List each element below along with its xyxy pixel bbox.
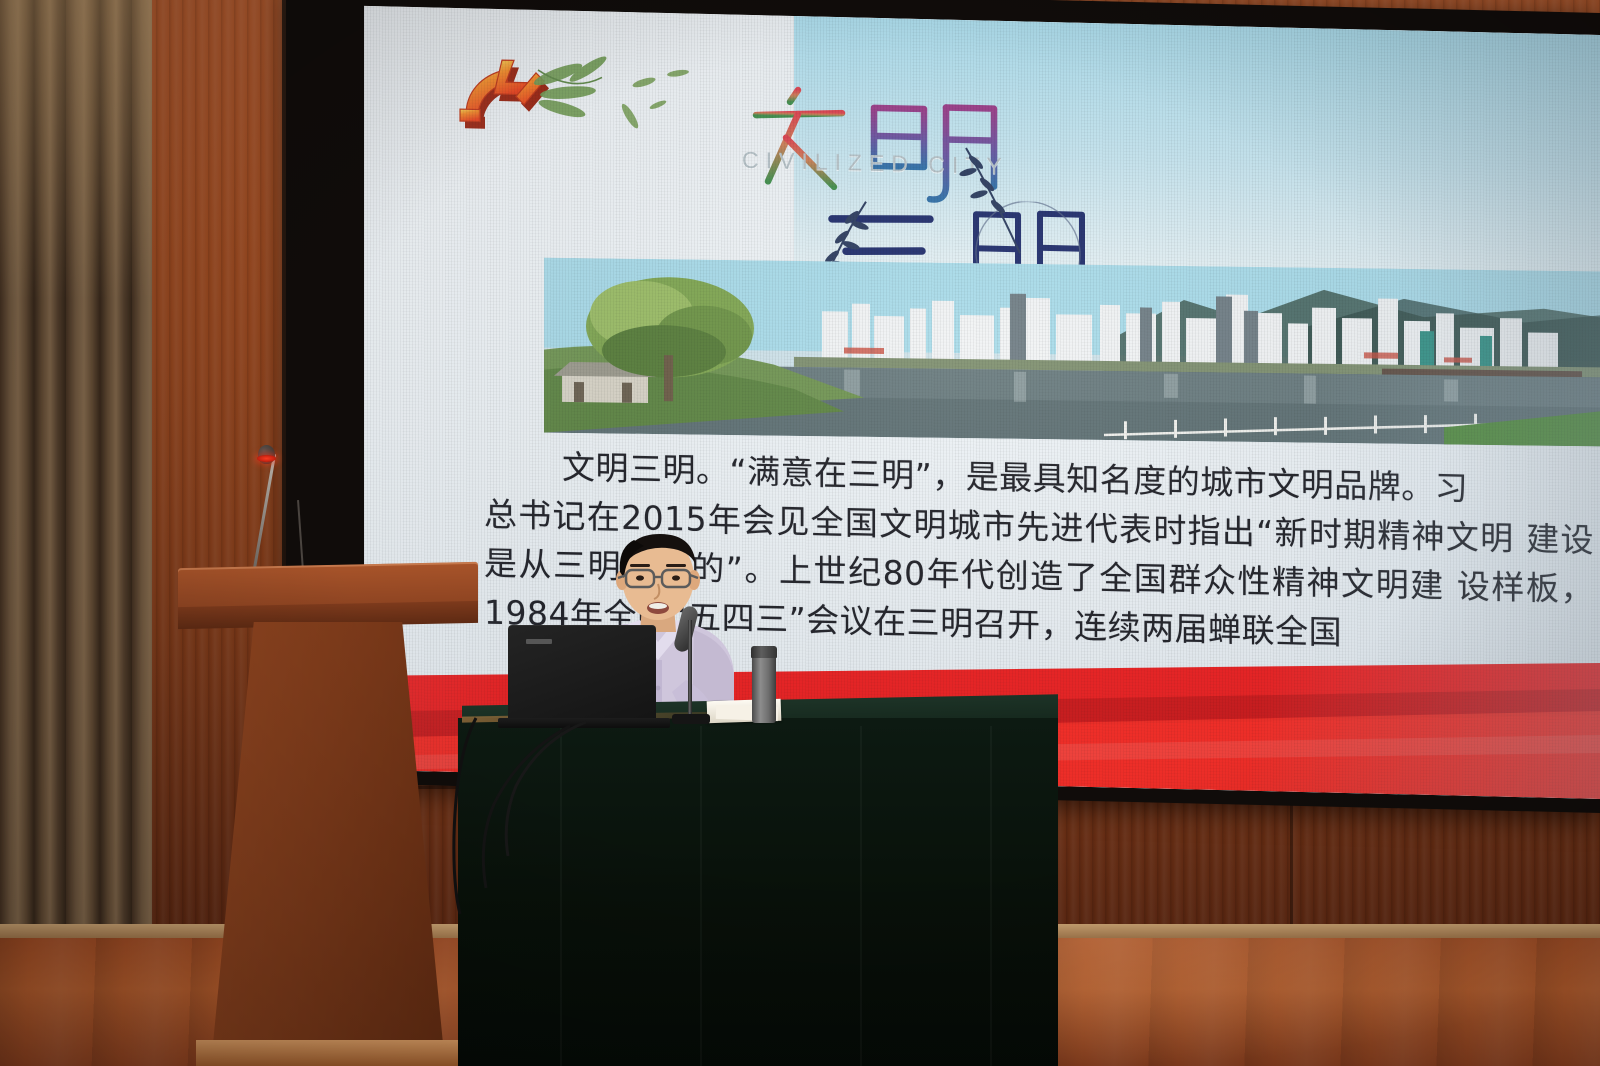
vacuum-flask[interactable]	[752, 655, 776, 723]
table-cloth-fold	[860, 726, 862, 1066]
lecture-hall-scene: CIVILIZED CITY	[0, 0, 1600, 1066]
wall-seam-vertical	[1290, 790, 1293, 930]
lectern-base	[196, 1040, 462, 1066]
wheat-sprig-right-icon	[942, 139, 1032, 261]
power-cables	[420, 716, 600, 916]
bamboo-leaf-decoration-icon	[532, 40, 762, 165]
vacuum-flask-cap[interactable]	[751, 646, 777, 658]
table-cloth-fold	[700, 726, 702, 1066]
laptop-brand-logo	[526, 639, 552, 644]
desk-microphone-base	[672, 714, 710, 724]
cityscape-photo	[544, 258, 1600, 447]
stage-curtain	[0, 0, 152, 965]
led-display-frame: CIVILIZED CITY	[286, 0, 1600, 813]
desk-microphone-stand	[688, 620, 692, 724]
table-cloth-fold	[990, 726, 992, 1066]
podium-microphone-led-indicator	[257, 455, 276, 462]
